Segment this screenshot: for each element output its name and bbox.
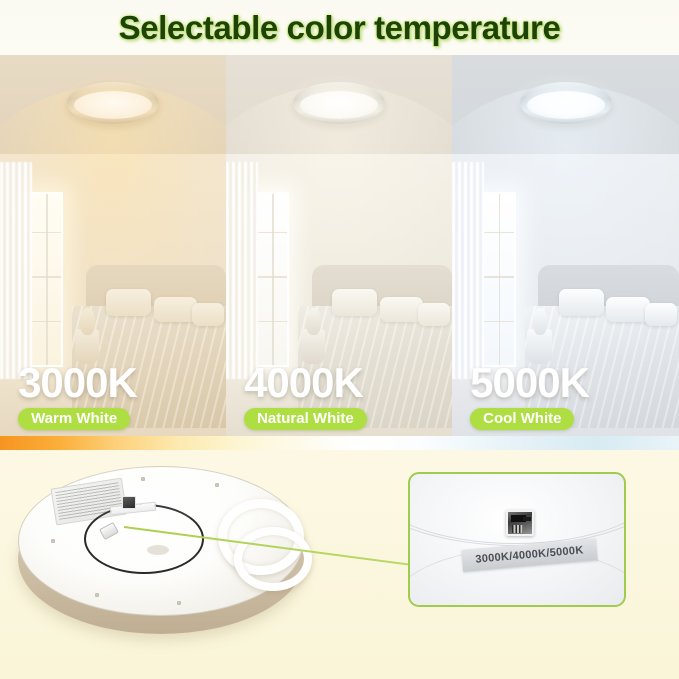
temperature-value: 4000K [244, 363, 367, 403]
product-photo-fixture-back [6, 458, 326, 648]
pillow [380, 297, 423, 322]
cct-dip-switch[interactable] [506, 510, 534, 536]
window-mullion-horizontal [31, 276, 61, 278]
switch-zoom-callout: 3000K/4000K/5000K [408, 472, 626, 607]
switch-label-text: 3000K/4000K/5000K [475, 544, 584, 565]
pillow [606, 297, 649, 322]
temperature-value: 3000K [18, 363, 137, 403]
window-mullion-horizontal [484, 276, 514, 278]
window-mullion-vertical [272, 194, 274, 365]
window-mullion-horizontal [484, 232, 514, 234]
curtain [452, 162, 484, 379]
window-mullion-horizontal [31, 232, 61, 234]
window-mullion-horizontal [257, 276, 287, 278]
window [29, 192, 63, 367]
ceiling-light-fixture [520, 82, 612, 124]
status-badge: Warm White [18, 408, 130, 430]
temperature-value: 5000K [470, 363, 589, 403]
scene-5000k: 5000K Cool White [452, 55, 679, 436]
ceiling-light-fixture [293, 82, 385, 124]
bracket-ring [234, 527, 312, 591]
vase [306, 308, 321, 335]
window-mullion-vertical [499, 194, 501, 365]
vase [533, 308, 548, 335]
fixture-lens [527, 91, 605, 119]
pillow [645, 303, 677, 326]
window-mullion-vertical [46, 194, 48, 365]
window-mullion-horizontal [31, 321, 61, 323]
screw [177, 601, 181, 605]
curtain [226, 162, 258, 379]
screw [95, 593, 99, 597]
switch-lever-arm [523, 517, 531, 521]
temperature-label-group: 3000K Warm White [18, 363, 137, 430]
title-banner: Selectable color temperature [0, 0, 679, 55]
cct-switch-on-fixture [122, 496, 136, 509]
screw [215, 483, 219, 487]
pillow [106, 289, 151, 316]
pillow [559, 289, 604, 316]
page-title: Selectable color temperature [119, 9, 561, 47]
window-mullion-horizontal [257, 232, 287, 234]
infographic-canvas: Selectable color temperature [0, 0, 679, 679]
ceiling-light-fixture [67, 82, 159, 124]
screw [141, 477, 145, 481]
window [482, 192, 516, 367]
vase [80, 308, 95, 335]
gradient-divider [0, 436, 679, 450]
status-badge: Natural White [244, 408, 367, 430]
temperature-label-group: 5000K Cool White [470, 363, 589, 430]
pillow [418, 303, 450, 326]
switch-contacts [512, 525, 523, 533]
power-wire-loop [84, 504, 204, 574]
scene-3000k: 3000K Warm White [0, 55, 226, 436]
pillow [192, 303, 224, 326]
curtain [0, 162, 32, 379]
scene-4000k: 4000K Natural White [226, 55, 452, 436]
window-mullion-horizontal [484, 321, 514, 323]
temperature-label-group: 4000K Natural White [244, 363, 367, 430]
pillow [154, 297, 197, 322]
window [255, 192, 289, 367]
fixture-lens [74, 91, 152, 119]
pillow [332, 289, 377, 316]
window-mullion-horizontal [257, 321, 287, 323]
color-temperature-comparison: 3000K Warm White [0, 55, 679, 436]
status-badge: Cool White [470, 408, 574, 430]
fixture-lens [300, 91, 378, 119]
screw [51, 539, 55, 543]
